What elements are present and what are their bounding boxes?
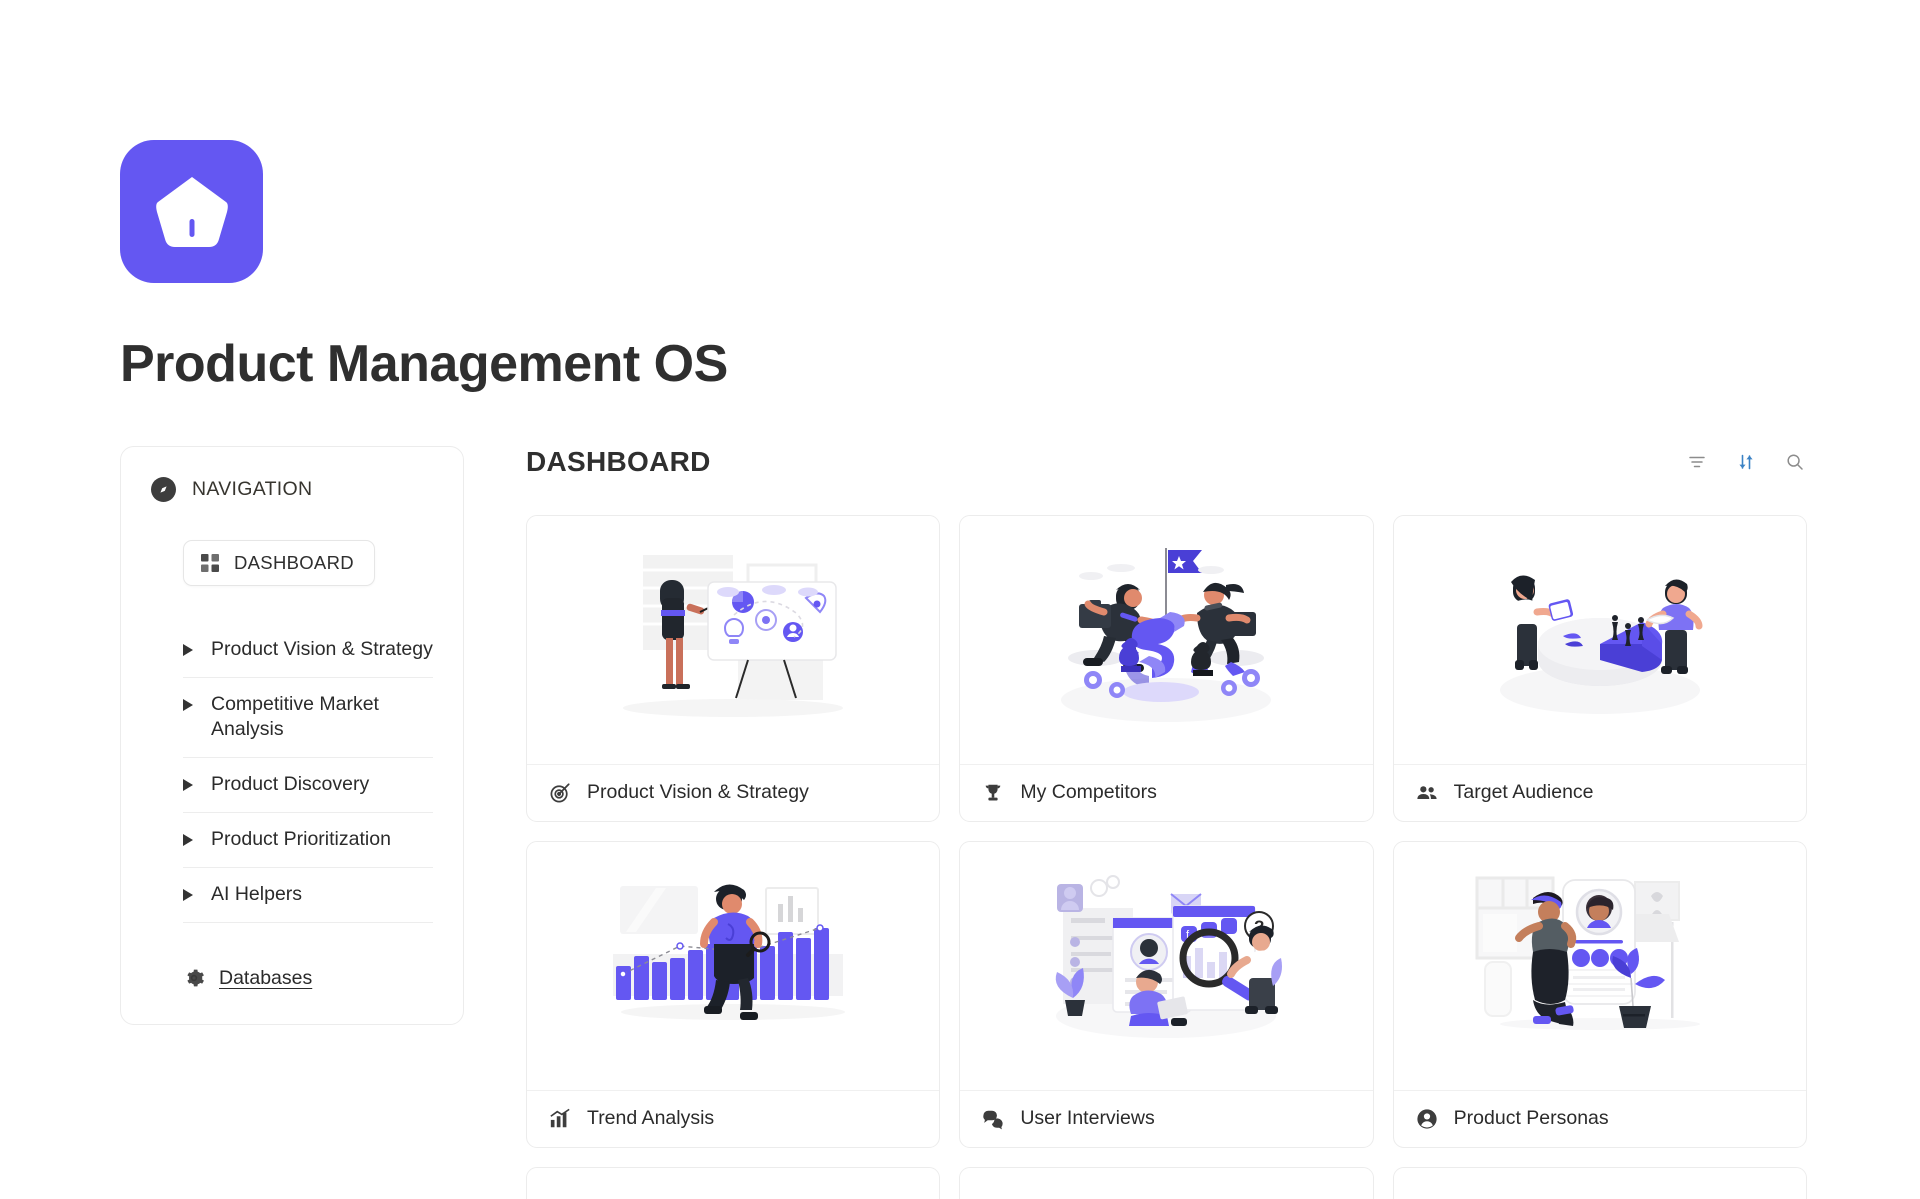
grid-icon [200, 553, 220, 573]
dashboard-card[interactable]: Product Personas [1393, 841, 1807, 1148]
bar-chart-trend-icon [549, 1108, 571, 1130]
dashboard-card[interactable]: Target Audience [1393, 515, 1807, 822]
sidebar-item-product-discovery[interactable]: Product Discovery [183, 758, 433, 813]
sidebar-item-label: Product Vision & Strategy [211, 637, 433, 662]
navigation-heading-label: NAVIGATION [192, 478, 312, 501]
sidebar-item-dashboard[interactable]: DASHBOARD [183, 540, 375, 586]
sidebar-item-product-prioritization[interactable]: Product Prioritization [183, 813, 433, 868]
dashboard-toolbar [1685, 450, 1807, 474]
dashboard-card-grid: Product Vision & Strategy [526, 515, 1807, 1199]
people-group-icon [1416, 782, 1438, 804]
dashboard-card[interactable]: My Competitors [959, 515, 1373, 822]
sort-icon[interactable] [1734, 450, 1758, 474]
sidebar-item-databases[interactable]: Databases [183, 967, 433, 990]
sidebar-item-label: Product Discovery [211, 772, 369, 797]
dashboard-card[interactable]: f ? [959, 841, 1373, 1148]
dashboard-main: DASHBOARD [526, 446, 1920, 1199]
card-footer: Product Personas [1394, 1090, 1806, 1147]
triangle-right-icon[interactable] [183, 699, 193, 711]
card-label: Target Audience [1454, 781, 1594, 804]
card-illustration [1394, 516, 1806, 764]
dashboard-card[interactable] [1393, 1167, 1807, 1199]
card-illustration [1394, 1168, 1806, 1199]
card-illustration [960, 516, 1372, 764]
card-footer: Trend Analysis [527, 1090, 939, 1147]
trophy-icon [982, 782, 1004, 804]
target-icon [549, 782, 571, 804]
page-title: Product Management OS [120, 336, 1920, 393]
card-label: User Interviews [1020, 1107, 1154, 1130]
dashboard-header: DASHBOARD [526, 446, 1807, 478]
card-illustration [527, 842, 939, 1090]
sidebar-item-label: AI Helpers [211, 882, 302, 907]
card-illustration [960, 1168, 1372, 1199]
sidebar-item-dashboard-label: DASHBOARD [234, 552, 354, 574]
card-illustration [527, 516, 939, 764]
app-logo [120, 140, 263, 283]
sidebar-item-label: Competitive Market Analysis [211, 692, 433, 742]
sidebar-item-product-vision-strategy[interactable]: Product Vision & Strategy [183, 622, 433, 678]
dashboard-card[interactable]: Product Vision & Strategy [526, 515, 940, 822]
app-page: Product Management OS NAVIGATION [0, 140, 1920, 1199]
filter-icon[interactable] [1685, 450, 1709, 474]
triangle-right-icon[interactable] [183, 644, 193, 656]
triangle-right-icon[interactable] [183, 779, 193, 791]
gear-icon [183, 967, 205, 989]
card-illustration: f ? [960, 842, 1372, 1090]
section-title: DASHBOARD [526, 446, 711, 478]
sidebar-item-competitive-market-analysis[interactable]: Competitive Market Analysis [183, 678, 433, 758]
navigation-heading: NAVIGATION [151, 477, 433, 502]
sidebar-item-label: Product Prioritization [211, 827, 391, 852]
card-label: Trend Analysis [587, 1107, 714, 1130]
card-footer: My Competitors [960, 764, 1372, 821]
card-label: Product Vision & Strategy [587, 781, 809, 804]
card-label: My Competitors [1020, 781, 1157, 804]
sidebar-nav-list: Product Vision & Strategy Competitive Ma… [151, 622, 433, 923]
speech-bubbles-icon [982, 1108, 1004, 1130]
dashboard-card[interactable] [959, 1167, 1373, 1199]
dashboard-card[interactable]: Trend Analysis [526, 841, 940, 1148]
sidebar-item-ai-helpers[interactable]: AI Helpers [183, 868, 433, 923]
card-illustration [1394, 842, 1806, 1090]
sidebar-item-databases-label: Databases [219, 967, 312, 990]
card-illustration: ? [527, 1168, 939, 1199]
navigation-sidebar: NAVIGATION DASHBOARD Product Vision & St [120, 446, 464, 1025]
card-footer: Target Audience [1394, 764, 1806, 821]
triangle-right-icon[interactable] [183, 834, 193, 846]
dashboard-card[interactable]: ? [526, 1167, 940, 1199]
compass-icon [151, 477, 176, 502]
card-label: Product Personas [1454, 1107, 1609, 1130]
account-circle-icon [1416, 1108, 1438, 1130]
card-footer: Product Vision & Strategy [527, 764, 939, 821]
card-footer: User Interviews [960, 1090, 1372, 1147]
triangle-right-icon[interactable] [183, 889, 193, 901]
house-pentagon-logo-icon [149, 169, 235, 255]
search-icon[interactable] [1783, 450, 1807, 474]
